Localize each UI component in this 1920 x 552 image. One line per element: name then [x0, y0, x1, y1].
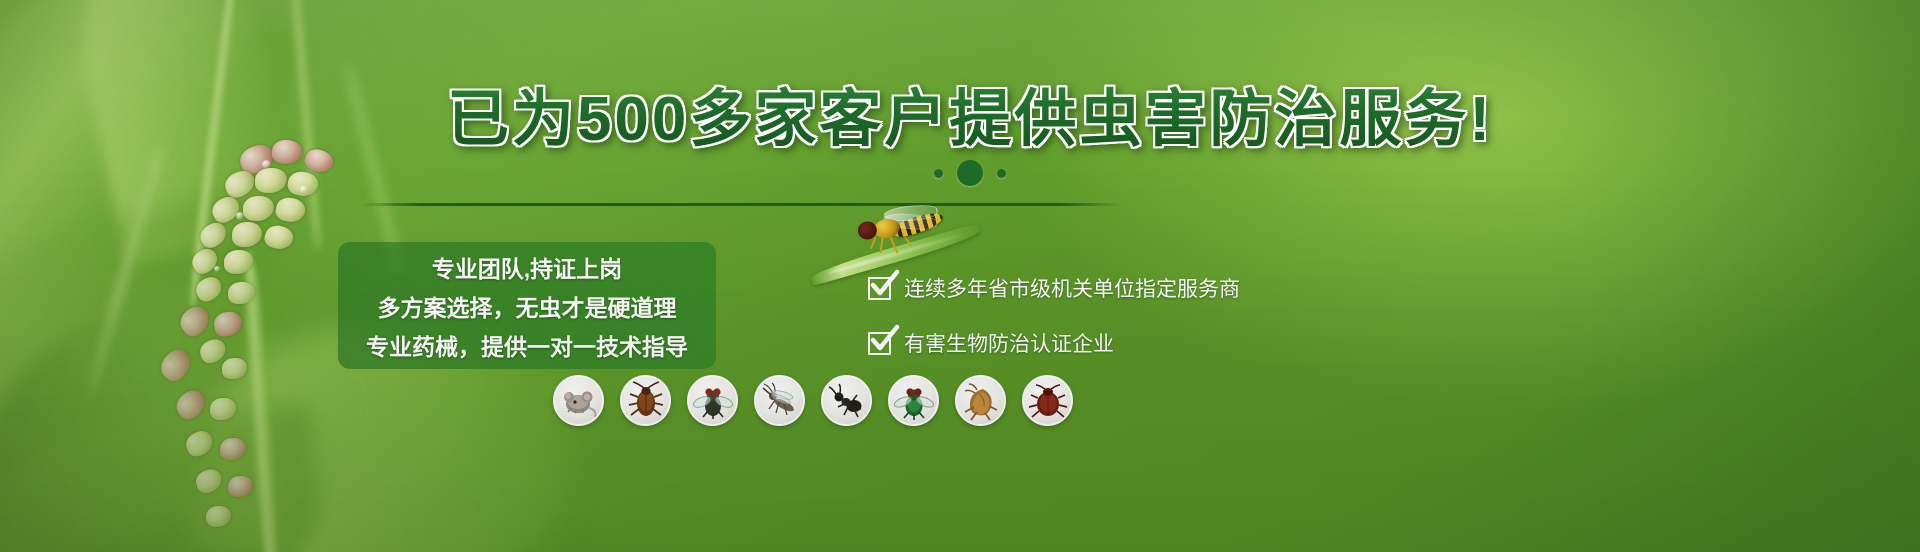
ant-icon[interactable]	[821, 375, 872, 426]
pest-control-hero-banner: 已为500多家客户提供虫害防治服务! 专业团队,持证上岗 多方案选择，无虫才是硬…	[0, 0, 1920, 552]
housefly-icon[interactable]	[687, 375, 738, 426]
selling-points-box: 专业团队,持证上岗 多方案选择，无虫才是硬道理 专业药械，提供一对一技术指导	[338, 242, 716, 369]
checkbox-checked-icon	[868, 277, 891, 300]
water-droplet-icon	[236, 212, 244, 220]
divider-dots	[0, 160, 1920, 186]
divider-dot-icon	[934, 169, 943, 178]
checkbox-checked-icon	[868, 332, 891, 355]
water-droplet-icon	[214, 266, 220, 272]
checklist-item-label: 有害生物防治认证企业	[904, 328, 1114, 358]
credentials-checklist: 连续多年省市级机关单位指定服务商 有害生物防治认证企业	[868, 273, 1240, 358]
water-droplet-icon	[300, 186, 307, 193]
selling-point-line: 专业团队,持证上岗	[432, 250, 622, 284]
selling-point-line: 专业药械，提供一对一技术指导	[366, 328, 688, 362]
horizontal-rule	[360, 203, 1120, 206]
checklist-item: 连续多年省市级机关单位指定服务商	[868, 273, 1240, 303]
hoverfly-icon	[849, 196, 960, 260]
cockroach-icon[interactable]	[620, 375, 671, 426]
greenbottle-fly-icon[interactable]	[888, 375, 939, 426]
banner-headline: 已为500多家客户提供虫害防治服务!	[0, 68, 1920, 158]
checklist-item-label: 连续多年省市级机关单位指定服务商	[904, 273, 1240, 303]
mosquito-icon[interactable]	[754, 375, 805, 426]
checklist-item: 有害生物防治认证企业	[868, 328, 1240, 358]
divider-dot-icon	[997, 169, 1006, 178]
selling-point-line: 多方案选择，无虫才是硬道理	[378, 289, 677, 323]
pest-type-icon-row	[553, 375, 1073, 426]
bedbug-icon[interactable]	[1022, 375, 1073, 426]
mouse-icon[interactable]	[553, 375, 604, 426]
flea-icon[interactable]	[955, 375, 1006, 426]
divider-dot-icon	[957, 160, 983, 186]
